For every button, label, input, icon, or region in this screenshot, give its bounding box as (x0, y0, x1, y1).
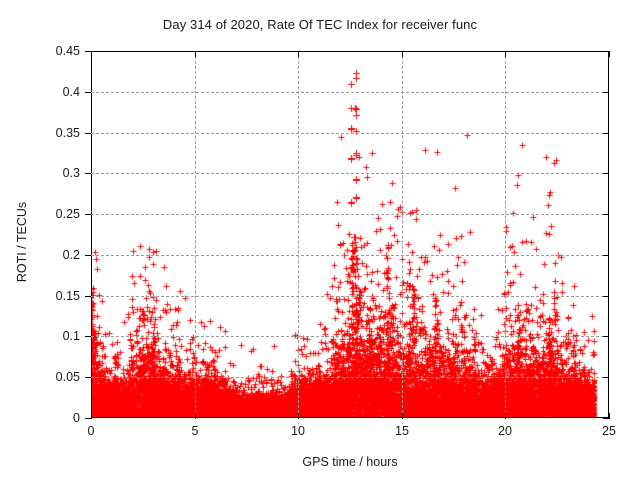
gridline-horizontal (91, 92, 609, 93)
y-tick-label: 0.3 (0, 166, 80, 180)
gridline-vertical (505, 51, 506, 418)
y-tick-mark-right (603, 92, 609, 93)
gridline-horizontal (91, 133, 609, 134)
y-tick-mark-right (603, 255, 609, 256)
y-tick-label: 0 (0, 411, 80, 425)
gridline-vertical (298, 51, 299, 418)
y-tick-mark-right (603, 336, 609, 337)
y-tick-mark (85, 377, 91, 378)
gridline-vertical (195, 51, 196, 418)
x-tick-label: 15 (395, 424, 409, 438)
x-tick-mark-top (505, 51, 506, 57)
y-tick-mark-right (603, 296, 609, 297)
x-tick-mark (91, 413, 92, 419)
gridline-horizontal (91, 377, 609, 378)
roti-scatter-chart: Day 314 of 2020, Rate Of TEC Index for r… (0, 0, 640, 480)
plot-frame (91, 51, 609, 418)
gridline-horizontal (91, 173, 609, 174)
x-tick-label: 5 (192, 424, 199, 438)
y-tick-mark (85, 336, 91, 337)
x-tick-mark-top (195, 51, 196, 57)
x-tick-label: 20 (498, 424, 512, 438)
y-tick-label: 0.2 (0, 248, 80, 262)
gridline-vertical (402, 51, 403, 418)
x-tick-mark-top (91, 51, 92, 57)
gridline-horizontal (91, 214, 609, 215)
x-tick-mark-top (298, 51, 299, 57)
x-tick-label: 10 (291, 424, 305, 438)
y-tick-mark (85, 255, 91, 256)
x-axis-title: GPS time / hours (0, 455, 640, 469)
y-tick-label: 0.35 (0, 126, 80, 140)
y-tick-mark (85, 133, 91, 134)
y-tick-label: 0.25 (0, 207, 80, 221)
x-tick-label: 25 (602, 424, 616, 438)
gridline-horizontal (91, 296, 609, 297)
x-tick-mark (402, 413, 403, 419)
gridline-horizontal (91, 255, 609, 256)
x-tick-mark (298, 413, 299, 419)
y-tick-mark-right (603, 133, 609, 134)
chart-title: Day 314 of 2020, Rate Of TEC Index for r… (0, 17, 640, 32)
y-tick-mark (85, 296, 91, 297)
y-tick-mark (85, 173, 91, 174)
gridline-horizontal (91, 336, 609, 337)
y-tick-label: 0.15 (0, 289, 80, 303)
x-tick-label: 0 (88, 424, 95, 438)
y-tick-mark (85, 214, 91, 215)
x-tick-mark (609, 413, 610, 419)
y-tick-mark-right (603, 377, 609, 378)
x-tick-mark-top (609, 51, 610, 57)
y-tick-label: 0.05 (0, 370, 80, 384)
y-tick-label: 0.45 (0, 44, 80, 58)
y-tick-label: 0.4 (0, 85, 80, 99)
y-tick-mark-right (603, 214, 609, 215)
y-tick-mark (85, 92, 91, 93)
y-axis-title: ROTI / TECUs (15, 172, 29, 312)
y-tick-mark-right (603, 173, 609, 174)
x-tick-mark-top (402, 51, 403, 57)
y-tick-label: 0.1 (0, 329, 80, 343)
x-tick-mark (505, 413, 506, 419)
x-tick-mark (195, 413, 196, 419)
